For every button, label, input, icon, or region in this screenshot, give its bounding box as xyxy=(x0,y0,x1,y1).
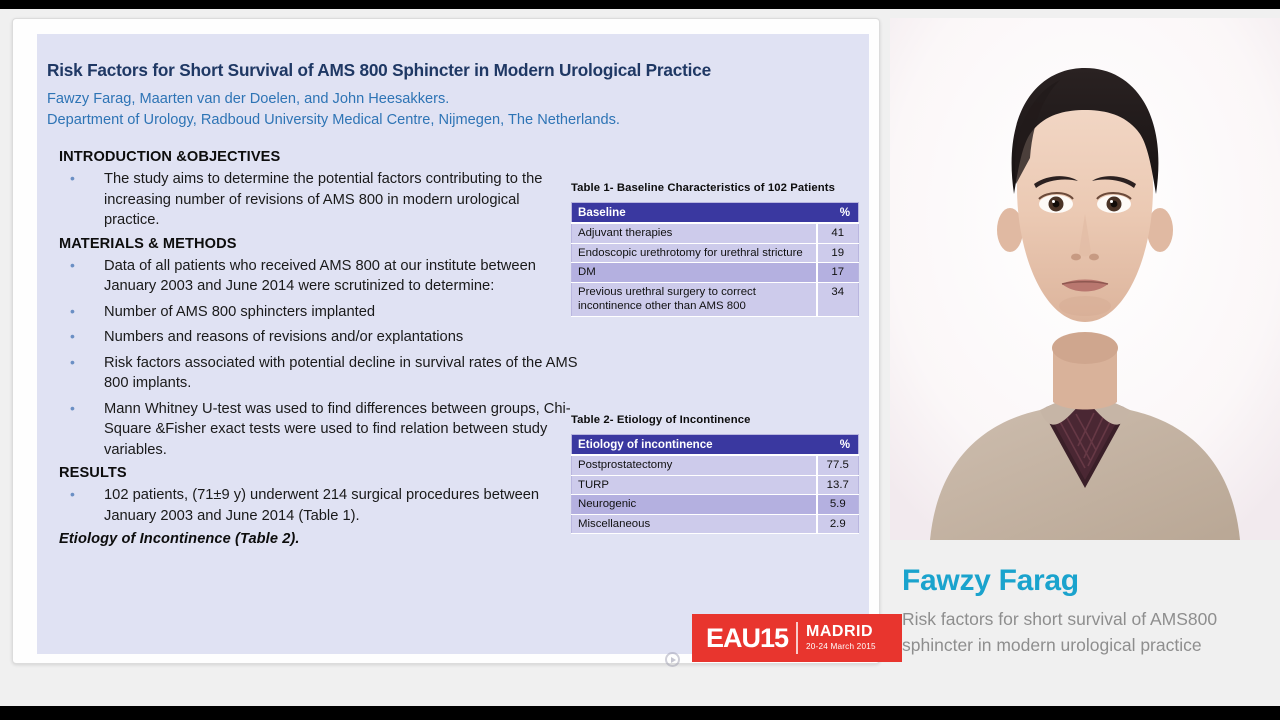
eau-logo-location: MADRID 20-24 March 2015 xyxy=(806,624,876,651)
cell-label: Adjuvant therapies xyxy=(572,223,817,243)
speaker-name: Fawzy Farag xyxy=(902,564,1079,598)
speaker-talk-title: Risk factors for short survival of AMS80… xyxy=(902,606,1274,658)
list-item: Mann Whitney U-test was used to find dif… xyxy=(59,399,579,461)
column-header-baseline: Baseline xyxy=(572,203,817,224)
table-header-row: Baseline % xyxy=(572,203,859,224)
cell-percent: 5.9 xyxy=(817,495,859,515)
cell-percent: 19 xyxy=(817,243,859,263)
column-header-etiology: Etiology of incontinence xyxy=(572,435,817,456)
table-1-caption: Table 1- Baseline Characteristics of 102… xyxy=(571,182,859,194)
speaker-photo xyxy=(890,18,1280,540)
list-item: 102 patients, (71±9 y) underwent 214 sur… xyxy=(59,485,579,526)
cell-percent: 13.7 xyxy=(817,475,859,495)
table-2-caption: Table 2- Etiology of Incontinence xyxy=(571,414,859,426)
authors-affiliation: Department of Urology, Radboud Universit… xyxy=(47,110,857,131)
table-1: Baseline % Adjuvant therapies 41 Endosco… xyxy=(571,202,859,317)
list-item: Risk factors associated with potential d… xyxy=(59,353,579,394)
authors-names: Fawzy Farag, Maarten van der Doelen, and… xyxy=(47,89,857,110)
section-heading-results: RESULTS xyxy=(59,465,579,481)
cell-label: Miscellaneous xyxy=(572,514,817,534)
table-row: Previous urethral surgery to correct inc… xyxy=(572,282,859,316)
cell-percent: 17 xyxy=(817,263,859,283)
cell-percent: 2.9 xyxy=(817,514,859,534)
cell-label: Postprostatectomy xyxy=(572,455,817,475)
eau-logo-divider xyxy=(796,622,798,654)
play-circle-icon[interactable] xyxy=(665,652,680,667)
eau-logo-dates: 20-24 March 2015 xyxy=(806,643,876,652)
list-item: Numbers and reasons of revisions and/or … xyxy=(59,327,579,348)
bullet-list-materials: Data of all patients who received AMS 80… xyxy=(59,256,579,461)
slide-card: Risk Factors for Short Survival of AMS 8… xyxy=(12,18,880,664)
table-1-block: Table 1- Baseline Characteristics of 102… xyxy=(571,182,859,317)
column-header-percent: % xyxy=(817,203,859,224)
cell-percent: 34 xyxy=(817,282,859,316)
table-row: Postprostatectomy 77.5 xyxy=(572,455,859,475)
list-item: The study aims to determine the potentia… xyxy=(59,169,579,231)
table-row: Adjuvant therapies 41 xyxy=(572,223,859,243)
poster-authors: Fawzy Farag, Maarten van der Doelen, and… xyxy=(47,89,857,131)
table-row: DM 17 xyxy=(572,263,859,283)
page-root: Risk Factors for Short Survival of AMS 8… xyxy=(0,0,1280,720)
section-heading-introduction: INTRODUCTION &OBJECTIVES xyxy=(59,149,579,165)
cell-percent: 77.5 xyxy=(817,455,859,475)
top-letterbox-bar xyxy=(0,0,1280,9)
cell-label: TURP xyxy=(572,475,817,495)
poster-slide[interactable]: Risk Factors for Short Survival of AMS 8… xyxy=(37,34,869,654)
table-row: Neurogenic 5.9 xyxy=(572,495,859,515)
cell-label: DM xyxy=(572,263,817,283)
eau-congress-logo: EAU15 MADRID 20-24 March 2015 xyxy=(692,614,902,662)
cell-label: Neurogenic xyxy=(572,495,817,515)
bottom-letterbox-bar xyxy=(0,706,1280,720)
column-header-percent: % xyxy=(817,435,859,456)
cell-percent: 41 xyxy=(817,223,859,243)
list-item: Data of all patients who received AMS 80… xyxy=(59,256,579,297)
table-row: TURP 13.7 xyxy=(572,475,859,495)
table-2-block: Table 2- Etiology of Incontinence Etiolo… xyxy=(571,414,859,534)
bullet-list-results: 102 patients, (71±9 y) underwent 214 sur… xyxy=(59,485,579,526)
eau-logo-wordmark: EAU15 xyxy=(692,623,788,654)
cell-label: Endoscopic urethrotomy for urethral stri… xyxy=(572,243,817,263)
list-item: Number of AMS 800 sphincters implanted xyxy=(59,302,579,323)
table-row: Endoscopic urethrotomy for urethral stri… xyxy=(572,243,859,263)
table-row: Miscellaneous 2.9 xyxy=(572,514,859,534)
section-heading-materials: MATERIALS & METHODS xyxy=(59,236,579,252)
bullet-list-introduction: The study aims to determine the potentia… xyxy=(59,169,579,231)
poster-title: Risk Factors for Short Survival of AMS 8… xyxy=(47,60,867,81)
section-heading-etiology: Etiology of Incontinence (Table 2). xyxy=(59,531,579,547)
speaker-portrait-illustration xyxy=(890,18,1280,540)
poster-left-column: INTRODUCTION &OBJECTIVES The study aims … xyxy=(59,146,579,551)
table-2: Etiology of incontinence % Postprostatec… xyxy=(571,434,859,534)
cell-label: Previous urethral surgery to correct inc… xyxy=(572,282,817,316)
speaker-panel: Fawzy Farag Risk factors for short survi… xyxy=(890,18,1280,708)
eau-logo-city: MADRID xyxy=(806,624,876,641)
table-header-row: Etiology of incontinence % xyxy=(572,435,859,456)
